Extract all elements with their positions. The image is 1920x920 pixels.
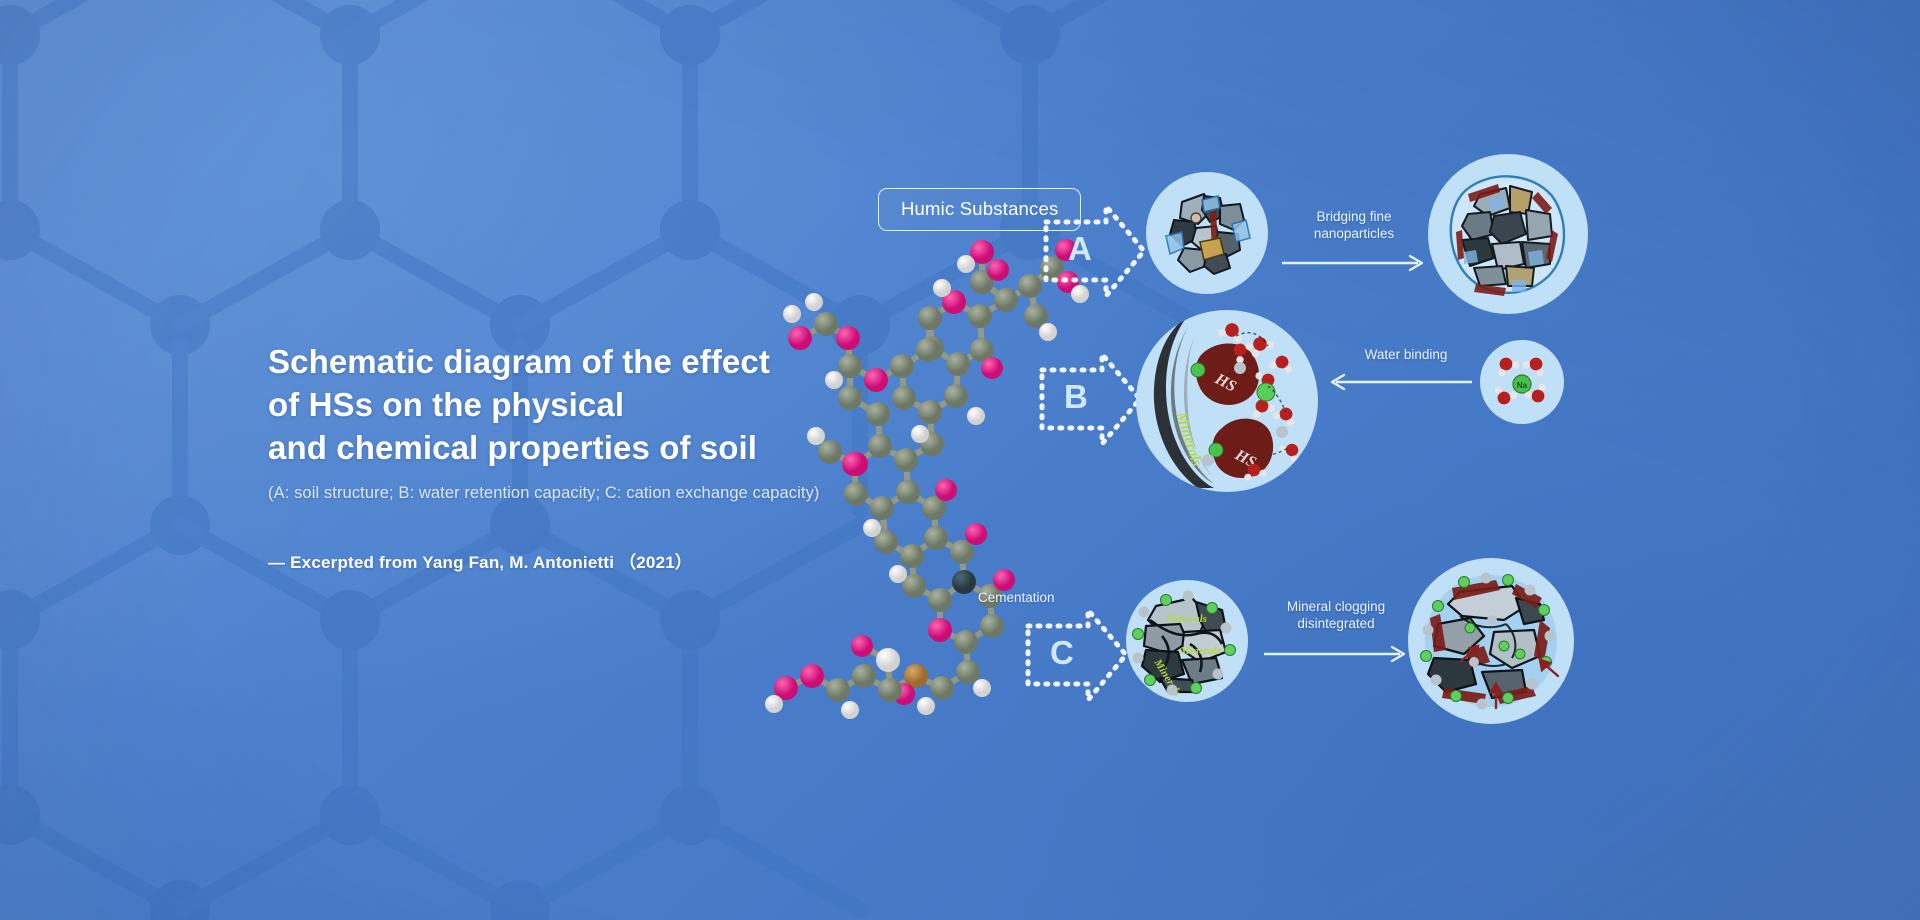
flow-label-c: Mineral clogging disintegrated [1256, 598, 1416, 632]
flow-label-c-line2: disintegrated [1256, 615, 1416, 632]
flow-arrow-b-left [1324, 372, 1484, 392]
flow-label-b-line1: Water binding [1326, 346, 1486, 363]
circle-loose-mineral-fragments [1146, 172, 1268, 294]
flow-label-a-line2: nanoparticles [1274, 225, 1434, 242]
stage-letter-b: B [1064, 380, 1088, 413]
circle-hs-mineral-water-shell: Minerals HS HS [1136, 310, 1318, 492]
stage-arrow-c [1022, 602, 1132, 712]
mineral-label-c2: Minerals [1179, 645, 1221, 657]
stage-letter-c: C [1050, 636, 1074, 669]
flow-label-a: Bridging fine nanoparticles [1274, 208, 1434, 242]
circle-disintegrated-mineral-cluster [1408, 558, 1574, 724]
flow-arrow-a-right [1280, 253, 1430, 273]
cation-inline-label: Na [1517, 381, 1528, 390]
flow-arrow-c-right [1262, 644, 1412, 664]
stage-arrow-a [1040, 198, 1150, 308]
stage-arrow-b [1036, 346, 1146, 456]
circle-hydrated-cation: Na [1480, 340, 1564, 424]
circle-cemented-mineral-cluster: Minerals Minerals Minerals [1126, 580, 1248, 702]
circle-aggregated-soil-structure [1428, 154, 1588, 314]
flow-label-a-line1: Bridging fine [1274, 208, 1434, 225]
diagram-panel: Humic Substances [840, 150, 1680, 770]
flow-label-c-line1: Mineral clogging [1256, 598, 1416, 615]
mineral-label-c1: Minerals [1165, 613, 1207, 625]
flow-label-b: Water binding [1326, 346, 1486, 363]
stage-letter-a: A [1068, 232, 1092, 265]
